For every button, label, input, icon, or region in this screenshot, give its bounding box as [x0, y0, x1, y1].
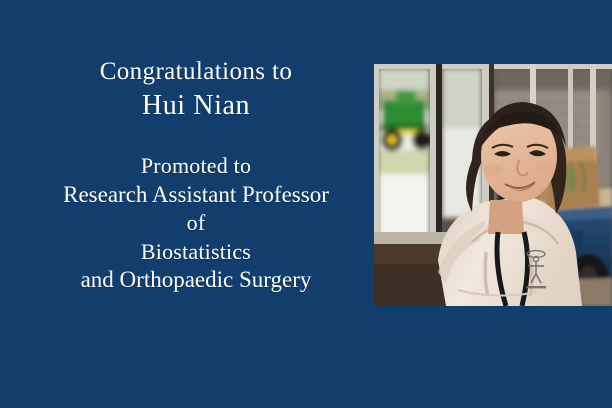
promotion-line-5: and Orthopaedic Surgery — [0, 266, 392, 295]
honoree-name: Hui Nian — [0, 88, 392, 124]
promotion-group: Promoted to Research Assistant Professor… — [0, 152, 392, 295]
photo-illustration — [374, 64, 612, 306]
promotion-line-4: Biostatistics — [0, 238, 392, 267]
honoree-photo — [374, 64, 612, 306]
promotion-line-2: Research Assistant Professor — [0, 181, 392, 210]
promotion-line-3: of — [0, 209, 392, 238]
congratulations-line: Congratulations to — [0, 56, 392, 88]
promotion-line-1: Promoted to — [0, 152, 392, 181]
text-block: Congratulations to Hui Nian Promoted to … — [0, 56, 392, 295]
headline-group: Congratulations to Hui Nian — [0, 56, 392, 124]
congratulations-slide: Congratulations to Hui Nian Promoted to … — [0, 0, 612, 408]
